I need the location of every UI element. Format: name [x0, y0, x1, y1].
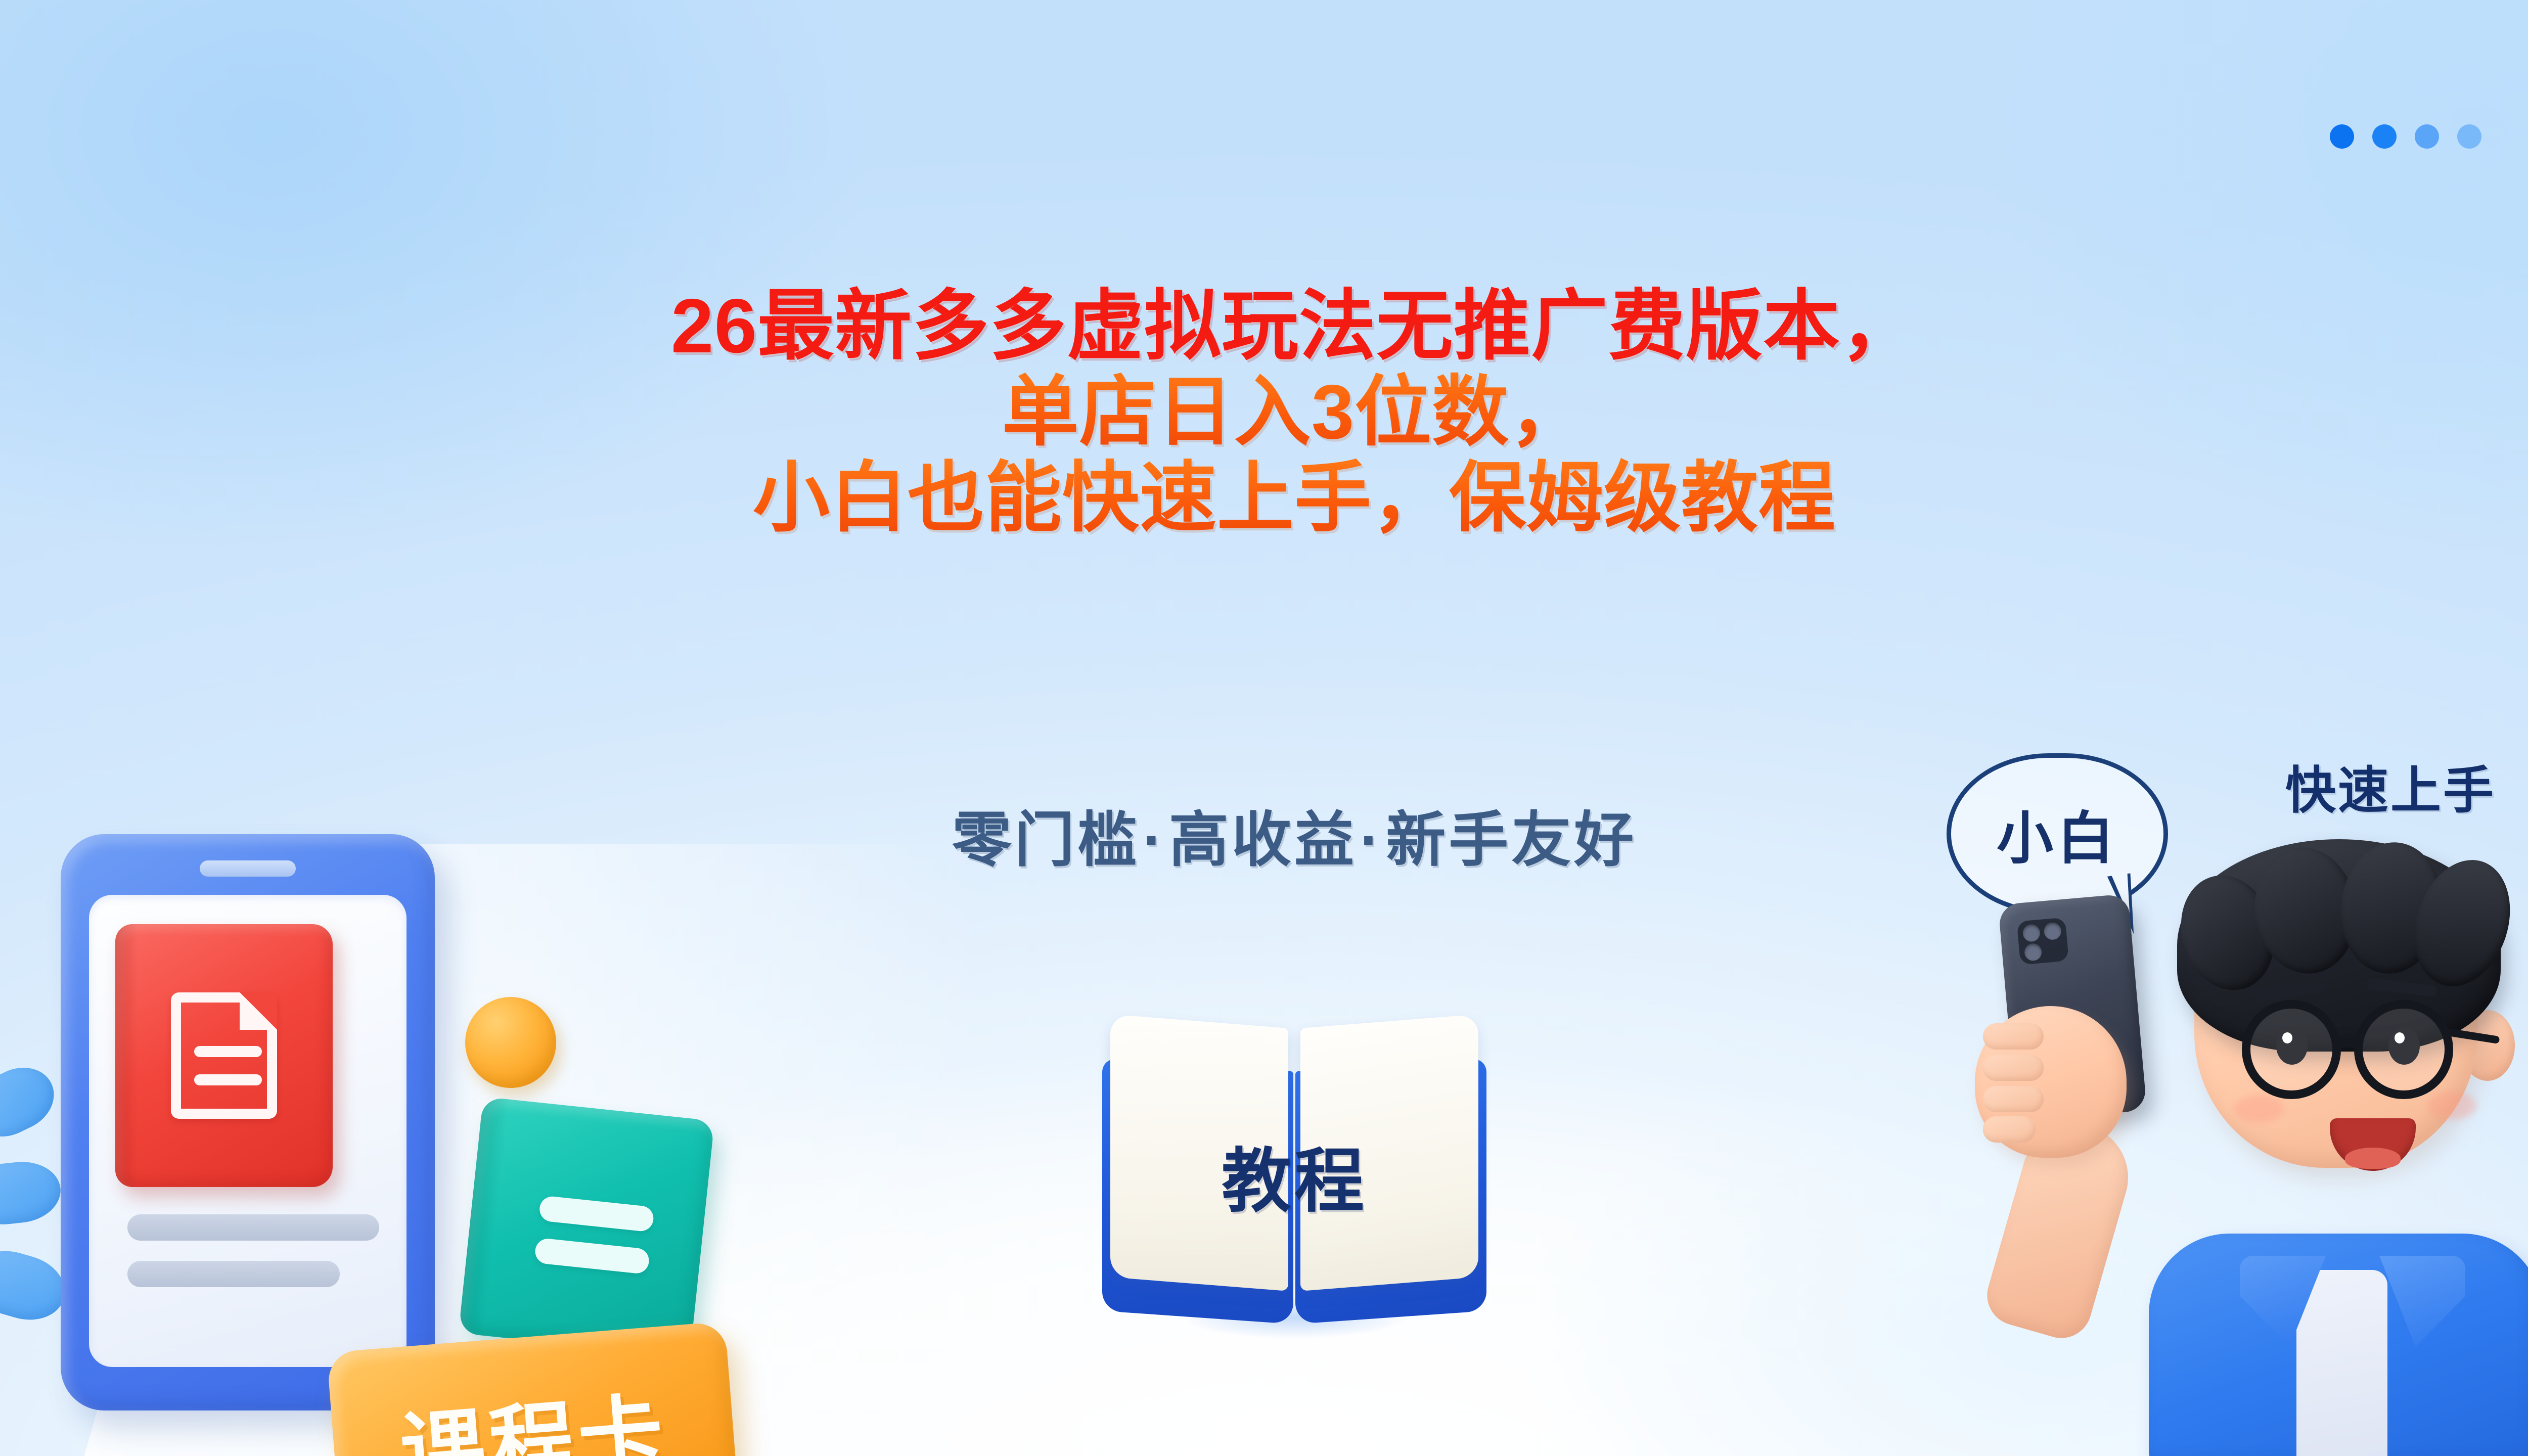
phone-camera-module	[2017, 918, 2069, 965]
glasses-bridge	[2337, 1039, 2362, 1048]
speech-bubble: 小白	[1947, 753, 2168, 914]
green-card-line-1	[538, 1195, 655, 1232]
tablet-speaker	[200, 860, 296, 877]
course-card-badge-label: 课程卡	[395, 1364, 671, 1456]
finger-2	[1983, 1055, 2044, 1081]
character-illustration: 小白 快速上手	[1931, 723, 2528, 1456]
green-note-card-icon	[459, 1097, 715, 1357]
tablet-screen	[89, 895, 407, 1367]
quick-start-text: 快速上手	[2285, 749, 2496, 823]
glasses-lens-right	[2354, 1000, 2453, 1099]
finger-4	[1983, 1116, 2036, 1143]
tablet-icon	[61, 834, 435, 1410]
headline-block: 26最新多多虚拟玩法无推广费版本， 单店日入3位数， 小白也能快速上手，保姆级教…	[0, 283, 2528, 541]
subtitle-separator-1: ·	[1140, 807, 1169, 874]
character-tongue	[2345, 1148, 2401, 1169]
left-illustration: 课程卡	[0, 738, 758, 1456]
camera-lens-2	[2043, 922, 2062, 940]
screen-text-bar-1	[127, 1214, 379, 1241]
book-label: 教程	[1102, 1124, 1486, 1225]
character-cheek-left	[2235, 1095, 2283, 1122]
orange-sphere-icon	[465, 997, 556, 1088]
camera-lens-1	[2022, 924, 2041, 942]
camera-lens-3	[2024, 943, 2043, 962]
finger-3	[1983, 1086, 2044, 1112]
green-card-line-2	[534, 1238, 650, 1275]
petal-2	[0, 1158, 64, 1228]
pager-dot-2[interactable]	[2372, 124, 2397, 149]
character-hand	[1975, 1006, 2127, 1158]
pager-dots[interactable]	[2330, 124, 2481, 149]
subtitle-separator-2: ·	[1357, 807, 1386, 874]
subtitle-part-1: 零门槛	[952, 807, 1140, 874]
finger-1	[1983, 1023, 2044, 1050]
document-line-1	[194, 1046, 262, 1057]
character-inner-shirt	[2296, 1270, 2387, 1456]
headline-line-1: 26最新多多虚拟玩法无推广费版本，	[0, 283, 2528, 369]
document-glyph	[171, 992, 277, 1119]
petal-1	[0, 1056, 65, 1148]
character-cheek-right	[2428, 1092, 2476, 1119]
pager-dot-3[interactable]	[2415, 124, 2439, 149]
open-book-icon: 教程	[1102, 1016, 1486, 1330]
document-folded-corner	[240, 992, 277, 1030]
document-line-2	[194, 1074, 262, 1085]
glasses-lens-left	[2242, 1000, 2341, 1099]
banner-canvas: 26最新多多虚拟玩法无推广费版本， 单店日入3位数， 小白也能快速上手，保姆级教…	[0, 0, 2528, 1456]
pager-dot-4[interactable]	[2457, 124, 2481, 149]
screen-text-bar-2	[127, 1261, 340, 1287]
headline-line-3: 小白也能快速上手，保姆级教程	[0, 455, 2528, 541]
subtitle-part-2: 高收益	[1169, 807, 1357, 874]
headline-line-2: 单店日入3位数，	[0, 369, 2528, 455]
pager-dot-1[interactable]	[2330, 124, 2354, 149]
document-card-icon	[115, 924, 333, 1187]
subtitle-part-3: 新手友好	[1386, 807, 1637, 874]
speech-bubble-text: 小白	[1997, 793, 2118, 875]
